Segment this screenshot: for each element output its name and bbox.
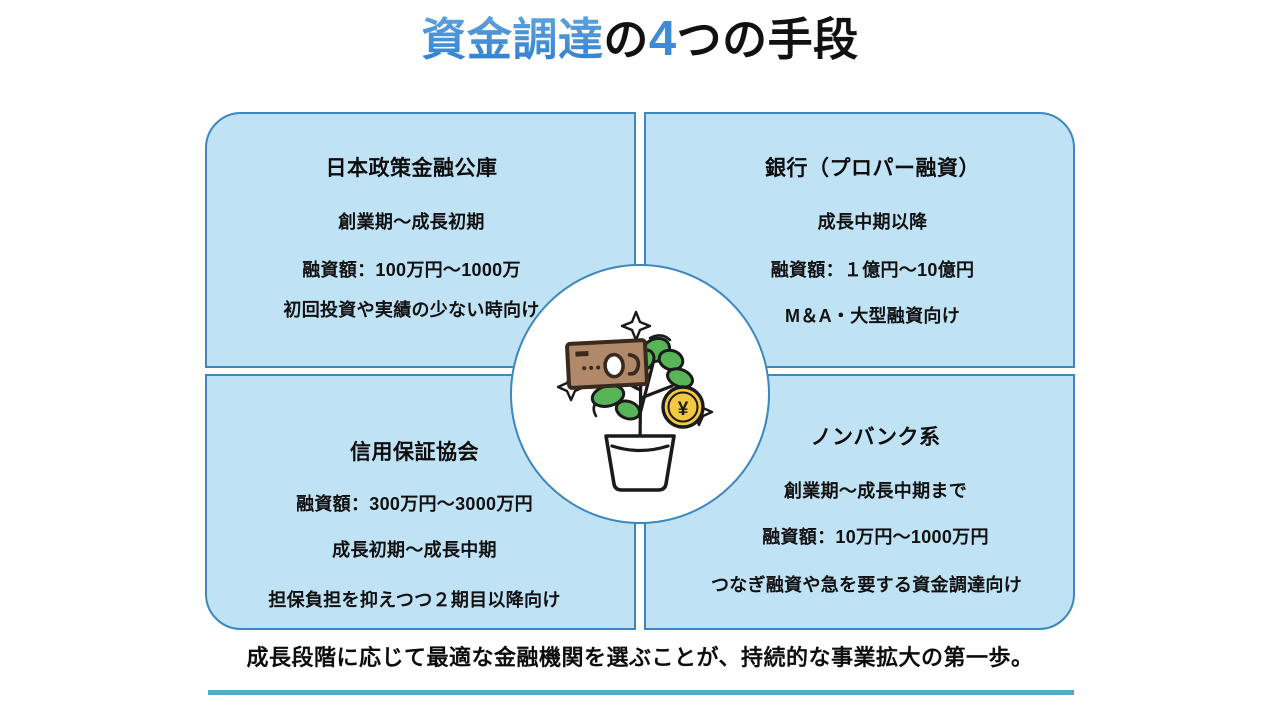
banknote-icon <box>567 340 647 388</box>
quadrant-line-2: 成長初期〜成長中期 <box>332 536 497 562</box>
funding-options-grid: 日本政策金融公庫 創業期〜成長初期 融資額：100万円〜1000万 初回投資や実… <box>205 112 1075 630</box>
money-plant-illustration: ¥ <box>540 294 740 494</box>
quadrant-title: ノンバンク系 <box>810 421 940 451</box>
quadrant-line-2: 融資額：10万円〜1000万円 <box>762 523 989 549</box>
title-particle: の <box>603 14 649 65</box>
footer-divider <box>208 690 1074 695</box>
quadrant-line-1: 創業期〜成長初期 <box>338 208 484 234</box>
quadrant-title: 日本政策金融公庫 <box>326 152 498 182</box>
title-number: 4 <box>649 12 677 66</box>
quadrant-line-3: 初回投資や実績の少ない時向け <box>283 296 539 322</box>
flower-pot-icon <box>606 436 674 490</box>
title-accent: 資金調達 <box>421 14 603 65</box>
footer-text: 成長段階に応じて最適な金融機関を選ぶことが、持続的な事業拡大の第一歩。 <box>0 640 1280 672</box>
center-illustration-circle: ¥ <box>510 264 770 524</box>
quadrant-line-1: 融資額：300万円〜3000万円 <box>296 490 533 516</box>
quadrant-line-3: つなぎ融資や急を要する資金調達向け <box>711 571 1022 597</box>
quadrant-line-1: 創業期〜成長中期まで <box>784 477 967 503</box>
quadrant-line-1: 成長中期以降 <box>818 208 928 234</box>
page-title-bar: 資金調達の4つの手段 <box>0 0 1280 78</box>
quadrant-title: 信用保証協会 <box>350 436 479 466</box>
title-tail: つの手段 <box>677 14 859 65</box>
quadrant-line-2: 融資額：１億円〜10億円 <box>771 256 975 282</box>
footer-block: 成長段階に応じて最適な金融機関を選ぶことが、持続的な事業拡大の第一歩。 <box>0 640 1280 672</box>
page-title: 資金調達の4つの手段 <box>421 15 858 64</box>
quadrant-line-3: 担保負担を抑えつつ２期目以降向け <box>268 586 560 612</box>
quadrant-line-3: M＆A・大型融資向け <box>785 302 960 328</box>
quadrant-line-2: 融資額：100万円〜1000万 <box>302 256 521 282</box>
yen-coin-icon: ¥ <box>663 387 703 427</box>
svg-text:¥: ¥ <box>678 399 689 420</box>
quadrant-title: 銀行（プロパー融資） <box>765 152 980 182</box>
sparkle-icon <box>622 312 650 340</box>
